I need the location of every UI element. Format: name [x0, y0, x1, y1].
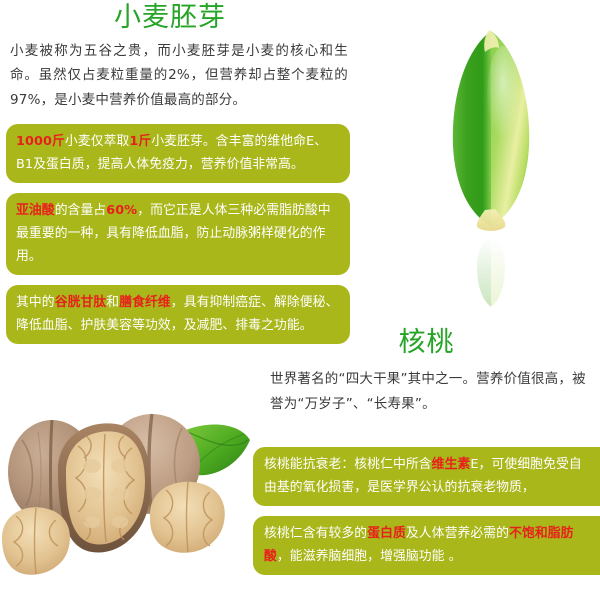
highlighted-keyword: 1000斤: [16, 134, 65, 149]
walnut-paragraph: 世界著名的“四大干果”其中之一。营养价值很高，被誉为“万岁子”、“长寿果”。: [253, 364, 600, 417]
walnut-info-box: 核桃能抗衰老：核桃仁中所含维生素E，可使细胞免受自由基的氧化损害，是医学界公认的…: [253, 447, 600, 506]
walnuts-photo-icon: [0, 370, 255, 590]
wheat-germ-info-box-list: 1000斤小麦仅萃取1斤小麦胚芽。含丰富的维他命E、B1及蛋白质，提高人体免疫力…: [6, 124, 350, 344]
walnut-section: 核桃 世界著名的“四大干果”其中之一。营养价值很高，被誉为“万岁子”、“长寿果”…: [0, 320, 600, 590]
product-description-page: 小麦胚芽 小麦被称为五谷之贵，而小麦胚芽是小麦的核心和生命。虽然仅占麦粒重量的2…: [0, 0, 600, 590]
highlighted-keyword: 1斤: [129, 134, 151, 149]
box-text: 其中的: [16, 295, 55, 310]
highlighted-keyword: 60%: [106, 203, 137, 218]
highlighted-keyword: 谷胱甘肽: [55, 295, 107, 310]
wheat-germ-info-box: 亚油酸的含量占60%，而它正是人体三种必需脂肪酸中最重要的一种，具有降低血脂，防…: [6, 193, 350, 275]
walnut-heading: 核桃: [253, 320, 600, 364]
wheat-germ-section: 小麦胚芽 小麦被称为五谷之贵，而小麦胚芽是小麦的核心和生命。虽然仅占麦粒重量的2…: [0, 0, 600, 320]
highlighted-keyword: 膳食纤维: [119, 295, 171, 310]
walnut-image: [0, 370, 255, 590]
wheat-germ-info-box: 1000斤小麦仅萃取1斤小麦胚芽。含丰富的维他命E、B1及蛋白质，提高人体免疫力…: [6, 124, 350, 183]
box-text: 核桃能抗衰老：核桃仁中所含: [264, 457, 432, 472]
box-text: 小麦仅萃取: [65, 134, 129, 149]
box-text: 的含量占: [55, 203, 107, 218]
highlighted-keyword: 亚油酸: [16, 203, 55, 218]
box-text: 及人体营养必需的: [406, 526, 509, 541]
highlighted-keyword: 蛋白质: [367, 526, 406, 541]
walnut-text-column: 核桃 世界著名的“四大干果”其中之一。营养价值很高，被誉为“万岁子”、“长寿果”…: [253, 320, 600, 417]
wheat-germ-reflection: [445, 233, 537, 308]
highlighted-keyword: 维生素: [432, 457, 471, 472]
walnut-info-box: 核桃仁含有较多的蛋白质及人体营养必需的不饱和脂肪酸，能滋养脑细胞，增强脑功能 。: [253, 516, 600, 575]
box-text: 核桃仁含有较多的: [264, 526, 367, 541]
box-text: 和: [106, 295, 119, 310]
wheat-germ-heading: 小麦胚芽: [10, 0, 330, 39]
walnut-info-box-list: 核桃能抗衰老：核桃仁中所含维生素E，可使细胞免受自由基的氧化损害，是医学界公认的…: [253, 447, 600, 585]
box-text: ，能滋养脑细胞，增强脑功能 。: [277, 549, 462, 564]
wheat-germ-grain-icon: [445, 28, 537, 233]
wheat-germ-image: [400, 18, 590, 298]
wheat-germ-paragraph: 小麦被称为五谷之贵，而小麦胚芽是小麦的核心和生命。虽然仅占麦粒重量的2%，但营养…: [0, 39, 360, 113]
wheat-germ-text-column: 小麦胚芽 小麦被称为五谷之贵，而小麦胚芽是小麦的核心和生命。虽然仅占麦粒重量的2…: [0, 0, 360, 112]
